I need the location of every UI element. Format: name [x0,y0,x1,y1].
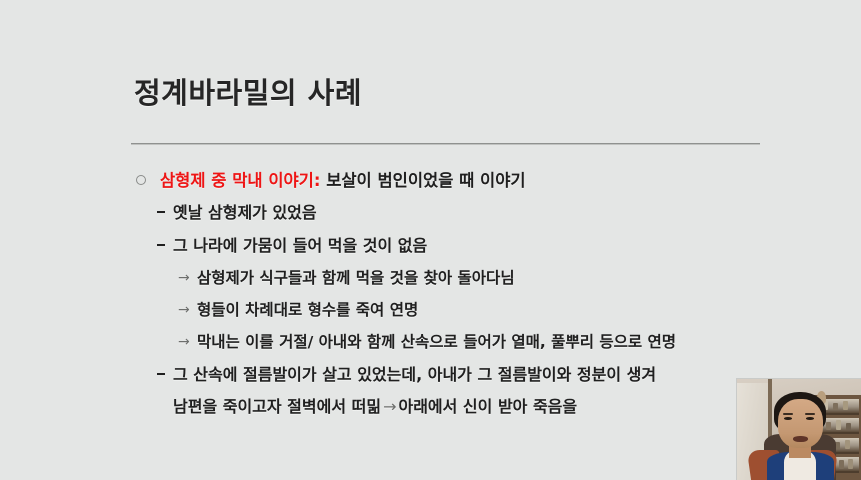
outline-item-level3: →형들이 차례대로 형수를 죽여 연명 [178,294,861,326]
page-title: 정계바라밀의 사례 [134,70,362,112]
outline-item-level2: 그 나라에 가뭄이 들어 먹을 것이 없음 [157,229,861,262]
shelf-item [843,401,848,411]
presenter-video-overlay[interactable] [736,378,861,480]
arrow-bullet-icon: → [178,294,190,326]
presenter-mouth [793,436,808,442]
outline-item-text: 옛날 삼형제가 있었음 [173,203,317,222]
shelf-item [835,442,840,450]
outline-item-text: 아래에서 신이 받아 죽음을 [398,397,577,416]
shelf-item [846,423,851,430]
outline-item-text: 삼형제가 식구들과 함께 먹을 것을 찾아 돌아다님 [197,269,515,287]
outline-item-level2: 옛날 삼형제가 있었음 [157,196,861,229]
slide-body: 삼형제 중 막내 이야기: 보살이 범인이었을 때 이야기 옛날 삼형제가 있었… [0,165,861,422]
shelf-item [836,420,841,430]
outline-item-text: 형들이 차례대로 형수를 죽여 연명 [197,301,418,319]
dash-bullet-icon [157,211,165,213]
hollow-circle-bullet-icon [136,175,146,185]
outline-item-text: 남편을 죽이고자 절벽에서 떠밂 [173,397,381,416]
shelf-item [826,422,831,430]
arrow-bullet-icon: → [178,326,190,358]
arrow-bullet-icon: → [178,262,190,294]
shelf-item [833,403,838,411]
video-frame [737,379,861,480]
outline-item-text: 그 나라에 가뭄이 들어 먹을 것이 없음 [173,236,427,255]
presentation-slide: 정계바라밀의 사례 삼형제 중 막내 이야기: 보살이 범인이었을 때 이야기 … [0,0,861,480]
shelf-item [845,440,850,449]
outline-item-text: 막내는 이를 거절/ 아내와 함께 산속으로 들어가 열매, 풀뿌리 등으로 연… [197,333,676,351]
dash-bullet-icon [157,373,165,375]
shelf-item [848,459,853,469]
outline-item-level1: 삼형제 중 막내 이야기: 보살이 범인이었을 때 이야기 [136,165,861,196]
outline-highlight-text: 삼형제 중 막내 이야기: [160,171,320,190]
outline-item-level3: →막내는 이를 거절/ 아내와 함께 산속으로 들어가 열매, 풀뿌리 등으로 … [178,326,861,358]
outline-item-level3: →삼형제가 식구들과 함께 먹을 것을 찾아 돌아다님 [178,262,861,294]
arrow-inline-icon: → [381,397,398,416]
shelf-item [839,460,844,468]
dash-bullet-icon [157,244,165,246]
title-divider [131,143,760,145]
outline-item-text: 보살이 범인이었을 때 이야기 [320,171,525,190]
outline-item-text: 그 산속에 절름발이가 살고 있었는데, 아내가 그 절름발이와 정분이 생겨 [173,365,656,384]
